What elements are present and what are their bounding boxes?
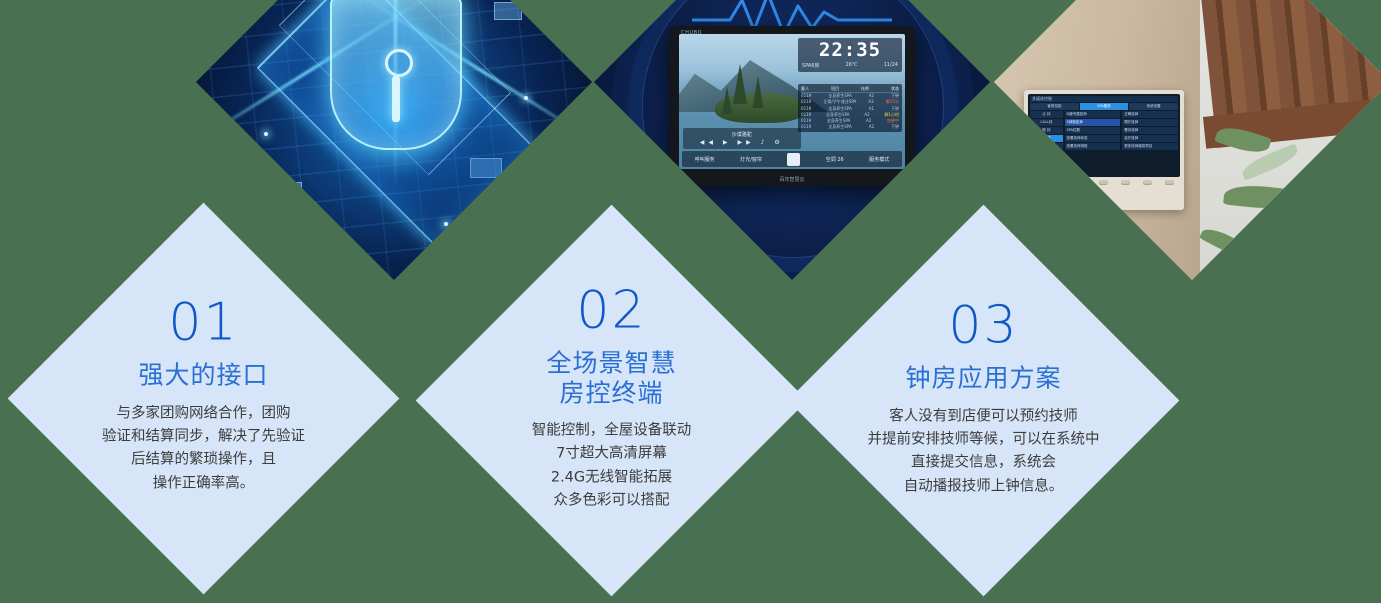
panel-tab-settings[interactable]: 系统设置 [1129,103,1178,110]
panel-option[interactable]: 正骨技师 [1122,111,1178,118]
media-player[interactable]: 沙漠骆驼 ◀◀ ▶ ▶▶ ♪ ⚙ [683,128,801,149]
panel-button[interactable] [1056,180,1065,185]
panel-button[interactable] [1165,180,1174,185]
panel-option[interactable]: SPA拉筋 [1065,127,1121,134]
panel-button[interactable] [1034,180,1043,185]
cell-status: 下钟 [891,124,899,130]
desc-line: 验证和结算同步，解决了先验证 [44,425,364,448]
card-desc-01: 与多家团购网络合作，团购 验证和结算同步，解决了先验证 后结算的繁琐操作，且 操… [43,401,363,495]
media-controls-icon[interactable]: ◀◀ ▶ ▶▶ ♪ ⚙ [686,139,798,146]
feature-card-03: 03 钟房应用方案 客人没有到店便可以预约技师 并提前安排技师等候，可以在系统中… [788,205,1180,597]
panel-side-menu[interactable]: 点 钟 CALL钟 圈 钟 换 钟 点 钟 [1030,111,1063,151]
clock-time: 22:35 [802,41,898,60]
title-line: 强大的接口 [44,360,364,390]
desc-line: 后结算的繁琐操作，且 [44,448,364,471]
desc-line: 直接提交信息，系统会 [824,451,1144,474]
desc-line: 与多家团购网络合作，团购 [43,401,363,424]
title-line: 钟房应用方案 [824,363,1144,393]
panel-header: 多媒体控制 [1030,96,1178,102]
panel-screen[interactable]: 多媒体控制 客房控制 SPA服务 系统设置 点 钟 CALL钟 圈 钟 换 钟 … [1028,94,1180,177]
panel-option[interactable]: S钟指定师 [1065,119,1121,126]
cell-tech: A2 [869,124,874,130]
date-label: 11/24 [884,62,898,69]
wall-control-panel[interactable]: 多媒体控制 客房控制 SPA服务 系统设置 点 钟 CALL钟 圈 钟 换 钟 … [1024,90,1184,210]
panel-right-column[interactable]: 正骨技师 理疗技师 看诊技师 足疗技师 更多技师服务项目 [1122,111,1178,151]
panel-option[interactable]: 更多技师服务项目 [1122,143,1178,150]
card-number-03: 03 [824,299,1144,351]
tablet-screen[interactable]: 22:35 SPA6房 26℃ 11/24 客人 项目 技师 状态 [679,34,905,169]
desc-line: 众多色彩可以搭配 [452,489,772,512]
panel-option[interactable]: 查看技师状态 [1065,135,1121,142]
tablet-footer-brand: 百年智慧云 [669,176,915,183]
tab-light-curtain[interactable]: 灯光/窗帘 [740,156,762,163]
keyhole-icon [385,49,413,77]
panel-hardware-buttons[interactable] [1028,180,1180,185]
plant-leaf [1255,212,1315,242]
desc-line: 自动播报技师上钟信息。 [824,475,1144,498]
panel-option[interactable]: 查看技师排班 [1065,143,1121,150]
title-line: 全场景智慧 [452,348,772,378]
panel-button[interactable] [1121,180,1130,185]
media-title: 沙漠骆驼 [686,131,798,138]
desc-line: 操作正确率高。 [44,472,364,495]
side-item[interactable]: 圈 钟 [1030,127,1063,134]
chip-block [494,2,522,20]
tree-shape [733,64,747,104]
list-header-cell: 项目 [831,86,839,92]
room-panel-image: 多媒体控制 客房控制 SPA服务 系统设置 点 钟 CALL钟 圈 钟 换 钟 … [994,0,1381,280]
panel-option[interactable]: D键专属技师 [1065,111,1121,118]
card-title-01: 强大的接口 [44,360,364,390]
service-list: 客人 项目 技师 状态 0119 全身养生SPA A2 下钟 0119 [798,84,902,132]
feature-card-01: 01 强大的接口 与多家团购网络合作，团购 验证和结算同步，解决了先验证 后结算… [8,203,400,595]
list-header-cell: 技师 [861,86,869,92]
spark-dot [444,222,448,226]
card-title-02: 全场景智慧 房控终端 [452,348,772,407]
panel-option[interactable]: 看诊技师 [1122,127,1178,134]
key-stem-icon [392,76,400,122]
shield-icon [330,0,462,150]
cell-item: 全身养生SPA [828,124,851,130]
tree-shape [753,76,764,108]
panel-option[interactable]: 足疗技师 [1122,135,1178,142]
list-header-cell: 状态 [891,86,899,92]
home-icon[interactable] [787,153,800,166]
panel-tabs[interactable]: 客房控制 SPA服务 系统设置 [1030,103,1178,110]
panel-tab-spa[interactable]: SPA服务 [1080,103,1129,110]
side-item[interactable]: 点 钟 [1030,111,1063,118]
panel-tab-room[interactable]: 客房控制 [1030,103,1079,110]
title-line: 房控终端 [452,378,772,408]
panel-button[interactable] [1078,180,1087,185]
card-title-03: 钟房应用方案 [824,363,1144,393]
tab-call-service[interactable]: 呼叫服务 [695,156,715,163]
card-number-02: 02 [452,284,772,336]
list-header-cell: 客人 [801,86,809,92]
tablet-device: CHUBO 22:35 SPA6房 26℃ 11/ [669,26,915,186]
cell-guest: 0119 [801,124,811,130]
desc-line: 2.4G无线智能拓展 [452,466,772,489]
panel-button[interactable] [1143,180,1152,185]
spark-dot [524,96,528,100]
list-row: 0119 全身养生SPA A2 下钟 [801,124,899,130]
spark-dot [264,132,268,136]
panel-option[interactable]: 理疗技师 [1122,119,1178,126]
card-desc-03: 客人没有到店便可以预约技师 并提前安排技师等候，可以在系统中 直接提交信息，系统… [824,404,1144,498]
clock-widget: 22:35 SPA6房 26℃ 11/24 [798,38,902,72]
card-desc-02: 智能控制，全屋设备联动 7寸超大高清屏幕 2.4G无线智能拓展 众多色彩可以搭配 [452,419,772,513]
feature-card-02: 02 全场景智慧 房控终端 智能控制，全屋设备联动 7寸超大高清屏幕 2.4G无… [416,205,808,597]
side-item[interactable]: 换 钟 [1030,135,1063,142]
feature-diamond-banner: 蓝色科技盾牌锁电路板图 CHUBO [0,0,1381,603]
room-label: SPA6房 [802,62,819,69]
desc-line: 并提前安排技师等候，可以在系统中 [824,428,1144,451]
desc-line: 客人没有到店便可以预约技师 [824,404,1144,427]
panel-button[interactable] [1099,180,1108,185]
desc-line: 7寸超大高清屏幕 [452,443,772,466]
card-number-01: 01 [43,296,363,348]
desc-line: 智能控制，全屋设备联动 [452,419,772,442]
side-item[interactable]: 点 钟 [1030,143,1063,150]
tab-aircon[interactable]: 空调 26 [826,156,844,163]
side-item[interactable]: CALL钟 [1030,119,1063,126]
smart-tablet-image: CHUBO 22:35 SPA6房 26℃ 11/ [594,0,990,280]
cyber-shield-image: 蓝色科技盾牌锁电路板图 [196,0,592,280]
chip-block [278,182,302,206]
tab-service-mode[interactable]: 服务模式 [869,155,889,162]
tablet-tabbar[interactable]: 呼叫服务 灯光/窗帘 空调 26 服务模式 [682,151,902,167]
panel-left-column[interactable]: D键专属技师 S钟指定师 SPA拉筋 查看技师状态 查看技师排班 [1065,111,1121,151]
tree-shape [722,86,732,114]
temp-label: 26℃ [846,62,858,69]
